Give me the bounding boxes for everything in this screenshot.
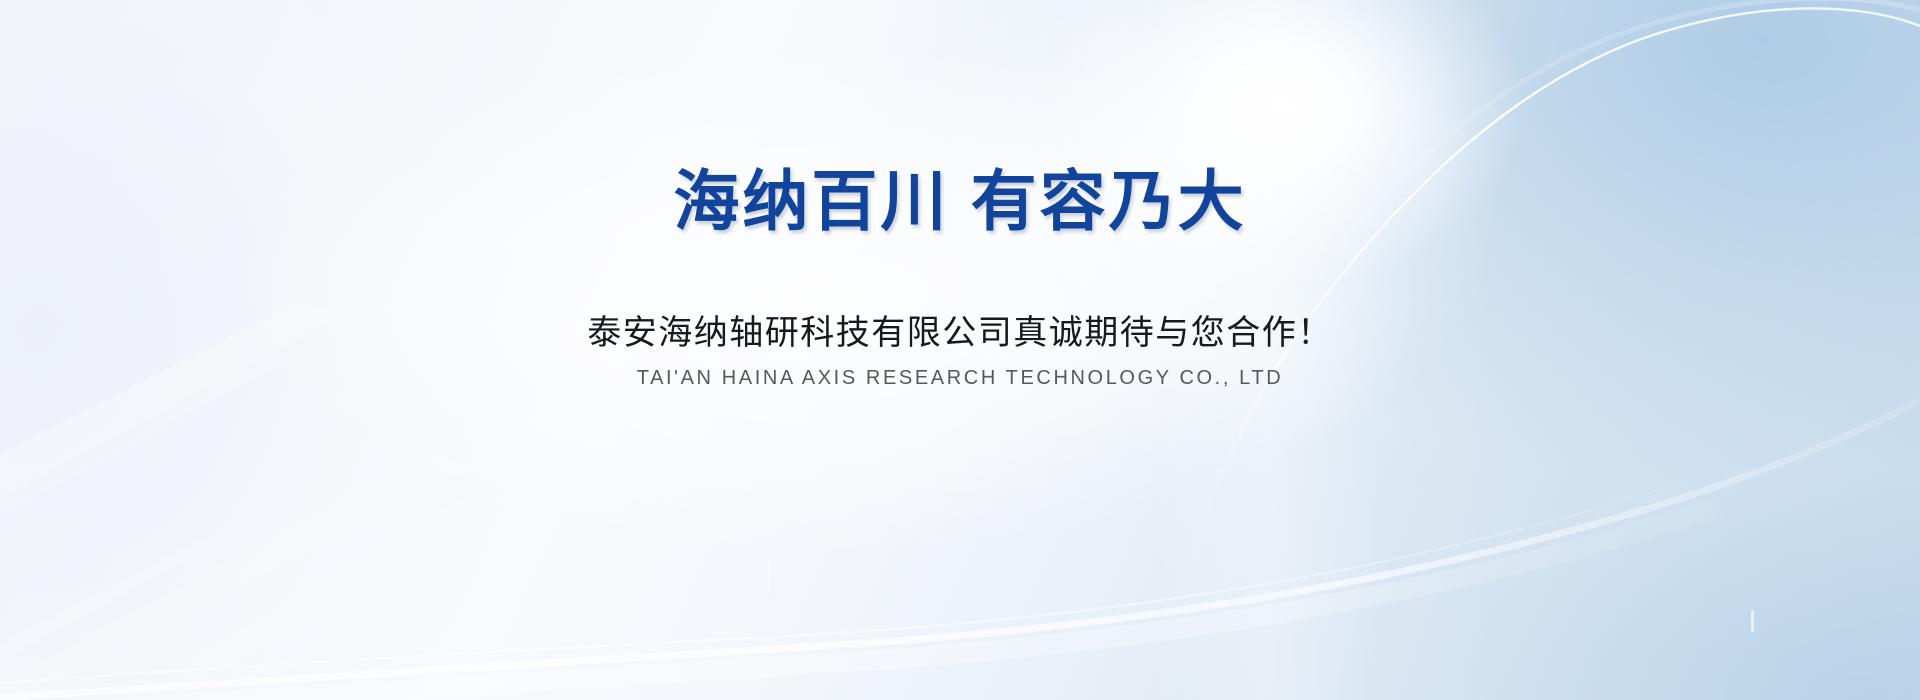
banner-subtitle-chinese: 泰安海纳轴研科技有限公司真诚期待与您合作！ bbox=[587, 314, 1333, 353]
hero-banner: 海纳百川 有容乃大 泰安海纳轴研科技有限公司真诚期待与您合作！ TAI'AN H… bbox=[0, 0, 1920, 700]
banner-subtitle-english: TAI'AN HAINA AXIS RESEARCH TECHNOLOGY CO… bbox=[637, 367, 1284, 389]
banner-content: 海纳百川 有容乃大 泰安海纳轴研科技有限公司真诚期待与您合作！ TAI'AN H… bbox=[0, 0, 1920, 700]
banner-headline: 海纳百川 有容乃大 bbox=[673, 168, 1246, 234]
